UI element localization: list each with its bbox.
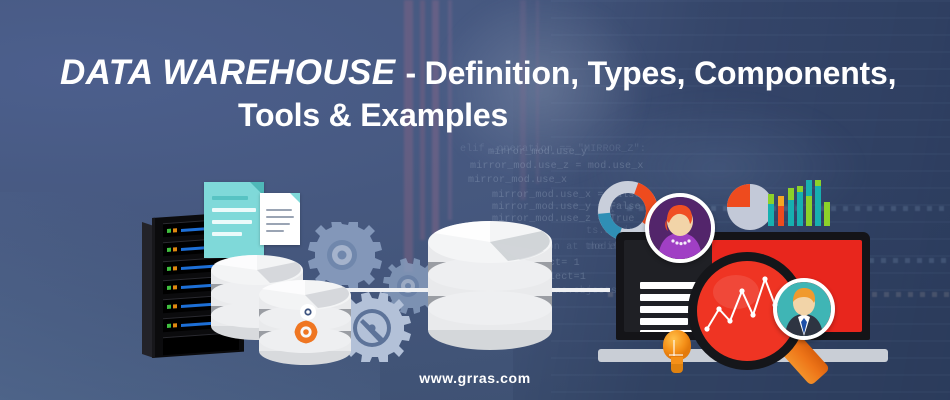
teal-document-icon xyxy=(204,182,264,258)
website-url: www.grras.com xyxy=(0,370,950,386)
bar-2-top xyxy=(778,196,784,206)
bar-5-top xyxy=(806,180,812,196)
bar-5-base xyxy=(806,196,812,226)
banner-root: mirror_mod.use_y mirror_mod.use_z = mod.… xyxy=(0,0,950,400)
bar-6-top xyxy=(815,180,821,186)
central-data-warehouse-database xyxy=(424,216,556,356)
led-green-icon xyxy=(167,286,171,290)
led-orange-icon xyxy=(173,228,177,232)
headline: DATA WAREHOUSE- Definition, Types, Compo… xyxy=(60,52,920,136)
led-green-icon xyxy=(167,305,171,309)
led-orange-icon xyxy=(173,247,177,251)
small-orange-gear-icon xyxy=(294,320,318,344)
bar-3-base xyxy=(788,200,794,226)
screen-text-line xyxy=(640,318,688,325)
document-fold xyxy=(290,193,300,203)
led-green-icon xyxy=(167,248,171,252)
headline-subtitle-part-1: - Definition, Types, Components, xyxy=(406,55,897,91)
headline-emphasis: DATA WAREHOUSE xyxy=(60,53,396,92)
code-overlay-line-2: mirror_mod.use_z = mod.use_x xyxy=(470,159,644,174)
bar-2-base xyxy=(778,206,784,226)
bar-4-base xyxy=(797,192,803,226)
screen-text-line xyxy=(640,294,694,301)
code-overlay-line-3: mirror_mod.use_x xyxy=(468,173,567,188)
female-user-avatar xyxy=(645,193,715,263)
led-orange-icon xyxy=(173,266,177,270)
headline-line-2: Tools & Examples xyxy=(60,94,920,136)
bar-4-top xyxy=(797,186,803,192)
led-orange-icon xyxy=(173,304,177,308)
led-orange-icon xyxy=(173,323,177,327)
bar-3-top xyxy=(788,188,794,200)
bar-1-top xyxy=(768,194,774,204)
led-orange-icon xyxy=(173,285,177,289)
headline-line-1: DATA WAREHOUSE- Definition, Types, Compo… xyxy=(60,52,920,94)
code-overlay-line-4: elif _operation == "MIRROR_Z": xyxy=(460,142,646,157)
led-green-icon xyxy=(167,267,171,271)
bar-chart xyxy=(768,180,830,226)
bar-6-base xyxy=(815,186,821,226)
led-green-icon xyxy=(167,229,171,233)
white-document-icon xyxy=(260,193,300,245)
male-user-avatar xyxy=(773,278,835,340)
bar-1-base xyxy=(768,204,774,226)
bar-7-base xyxy=(824,202,830,226)
led-green-icon xyxy=(167,324,171,328)
small-white-gear-icon xyxy=(299,303,317,321)
